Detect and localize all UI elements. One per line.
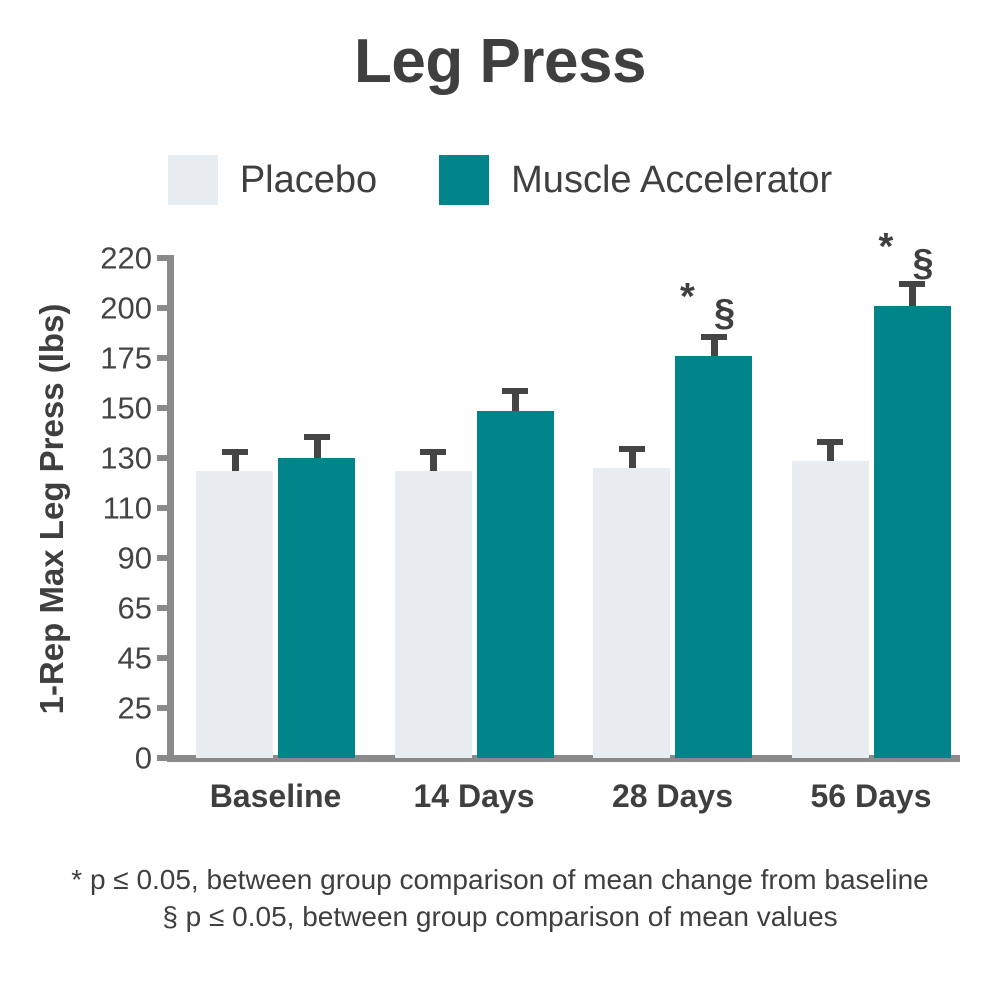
error-bar-stem (430, 449, 437, 471)
significance-star-56-days: * (879, 228, 894, 266)
bar-muscle-accelerator-14-days[interactable] (477, 411, 554, 759)
bar-muscle-accelerator-28-days[interactable] (675, 356, 752, 758)
chart-footnotes: * p ≤ 0.05, between group comparison of … (0, 862, 1000, 936)
error-bar-stem (314, 434, 321, 459)
chart-root: Leg Press Placebo Muscle Accelerator 1-R… (0, 0, 1000, 1000)
error-bar-stem (909, 281, 916, 306)
bar-muscle-accelerator-56-days[interactable] (874, 306, 951, 759)
bar-placebo-baseline[interactable] (196, 471, 273, 759)
x-axis-label-56-days: 56 Days (752, 778, 991, 815)
error-bar-stem (512, 388, 519, 411)
footnote-line-2: § p ≤ 0.05, between group comparison of … (0, 899, 1000, 936)
error-bar-stem (629, 446, 636, 468)
bar-muscle-accelerator-baseline[interactable] (278, 458, 355, 758)
bars-layer: *§*§ (0, 0, 1000, 758)
significance-section-28-days: § (714, 294, 735, 332)
error-bar-stem (827, 439, 834, 461)
bar-placebo-28-days[interactable] (593, 468, 670, 758)
footnote-line-1: * p ≤ 0.05, between group comparison of … (0, 862, 1000, 899)
bar-placebo-14-days[interactable] (395, 471, 472, 759)
plot-area: 1-Rep Max Leg Press (lbs) 02545659011013… (0, 0, 1000, 1000)
error-bar-stem (232, 449, 239, 471)
error-bar-stem (711, 334, 718, 356)
significance-star-28-days: * (680, 278, 695, 316)
bar-placebo-56-days[interactable] (792, 461, 869, 759)
significance-section-56-days: § (913, 244, 934, 282)
